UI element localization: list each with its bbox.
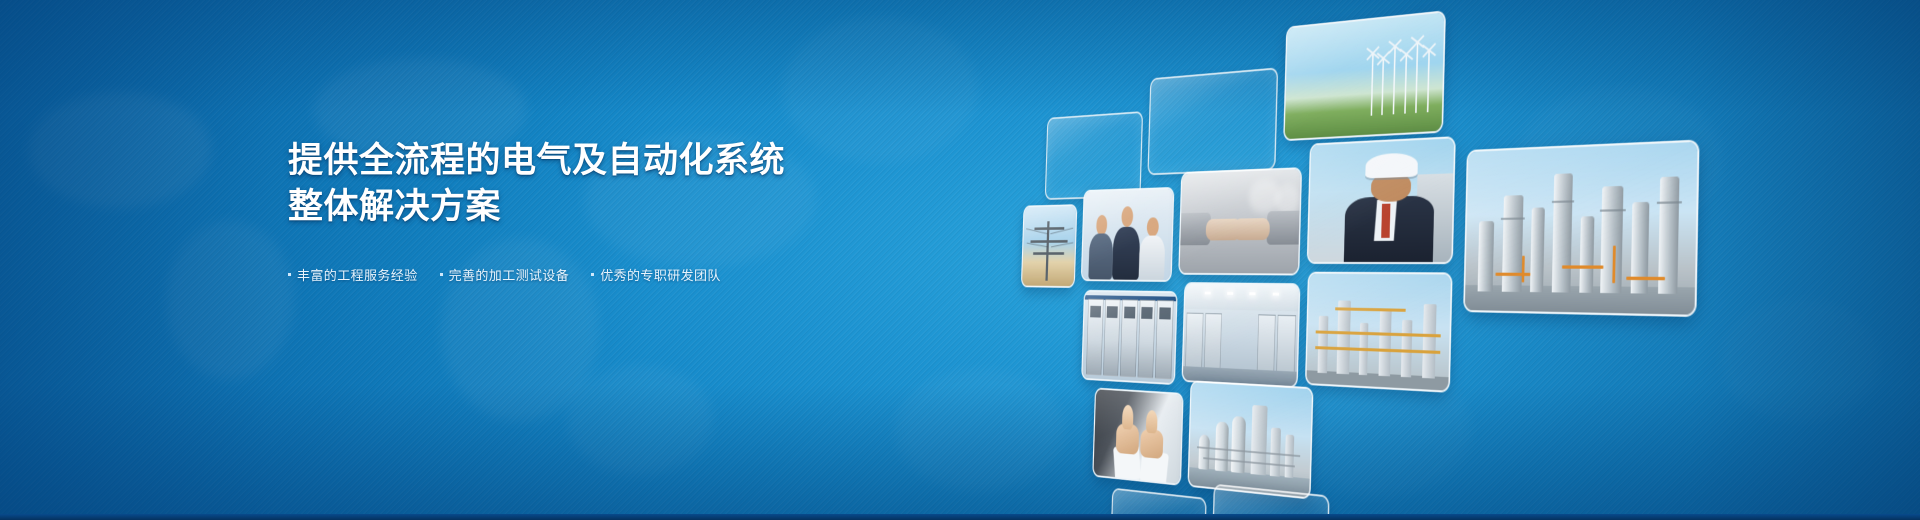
bullet-dot-icon [440, 273, 443, 276]
thumbs-up-artwork [1093, 389, 1182, 484]
tile-gas-plant[interactable] [1189, 382, 1312, 497]
power-pylon-artwork [1022, 206, 1076, 286]
bullet-dot-icon [591, 273, 594, 276]
tile-power-pylon[interactable] [1022, 206, 1076, 286]
tile-refinery[interactable] [1465, 142, 1698, 315]
business-team-artwork [1082, 189, 1173, 280]
feature-item-rnd-team: 优秀的专职研发团队 [591, 265, 721, 284]
tile-industrial-plant[interactable] [1306, 274, 1451, 391]
feature-label: 丰富的工程服务经验 [297, 265, 418, 284]
feature-item-experience: 丰富的工程服务经验 [288, 265, 418, 284]
handshake-artwork [1180, 169, 1301, 273]
gas-plant-artwork [1189, 382, 1312, 497]
switchgear-artwork [1082, 292, 1176, 384]
industrial-plant-artwork [1306, 274, 1451, 391]
switchroom-corridor-artwork [1183, 284, 1299, 386]
tile-wind-farm[interactable] [1285, 12, 1445, 139]
tile-switchroom-corridor[interactable] [1183, 284, 1299, 386]
tile-handshake[interactable] [1180, 169, 1301, 273]
feature-label: 完善的加工测试设备 [449, 265, 570, 284]
tile-empty-top-left[interactable] [1046, 113, 1142, 198]
tile-switchgear-cabinets[interactable] [1082, 292, 1176, 384]
tile-thumbs-up[interactable] [1093, 389, 1182, 484]
image-mosaic [820, 0, 1920, 520]
feature-label: 优秀的专职研发团队 [600, 265, 721, 284]
bullet-dot-icon [288, 273, 291, 276]
wind-farm-artwork [1285, 12, 1445, 139]
refinery-artwork [1465, 142, 1698, 315]
headline-line-1: 提供全流程的电气及自动化系统 [288, 141, 785, 180]
tile-empty-top-mid[interactable] [1149, 69, 1277, 173]
engineer-hardhat-artwork [1308, 138, 1454, 262]
hero-banner: 提供全流程的电气及自动化系统 整体解决方案 丰富的工程服务经验 完善的加工测试设… [0, 0, 1920, 520]
feature-item-equipment: 完善的加工测试设备 [440, 265, 570, 284]
tile-engineer-hardhat[interactable] [1308, 138, 1454, 262]
bottom-edge-strip [0, 514, 1920, 520]
tile-business-team[interactable] [1082, 189, 1173, 280]
